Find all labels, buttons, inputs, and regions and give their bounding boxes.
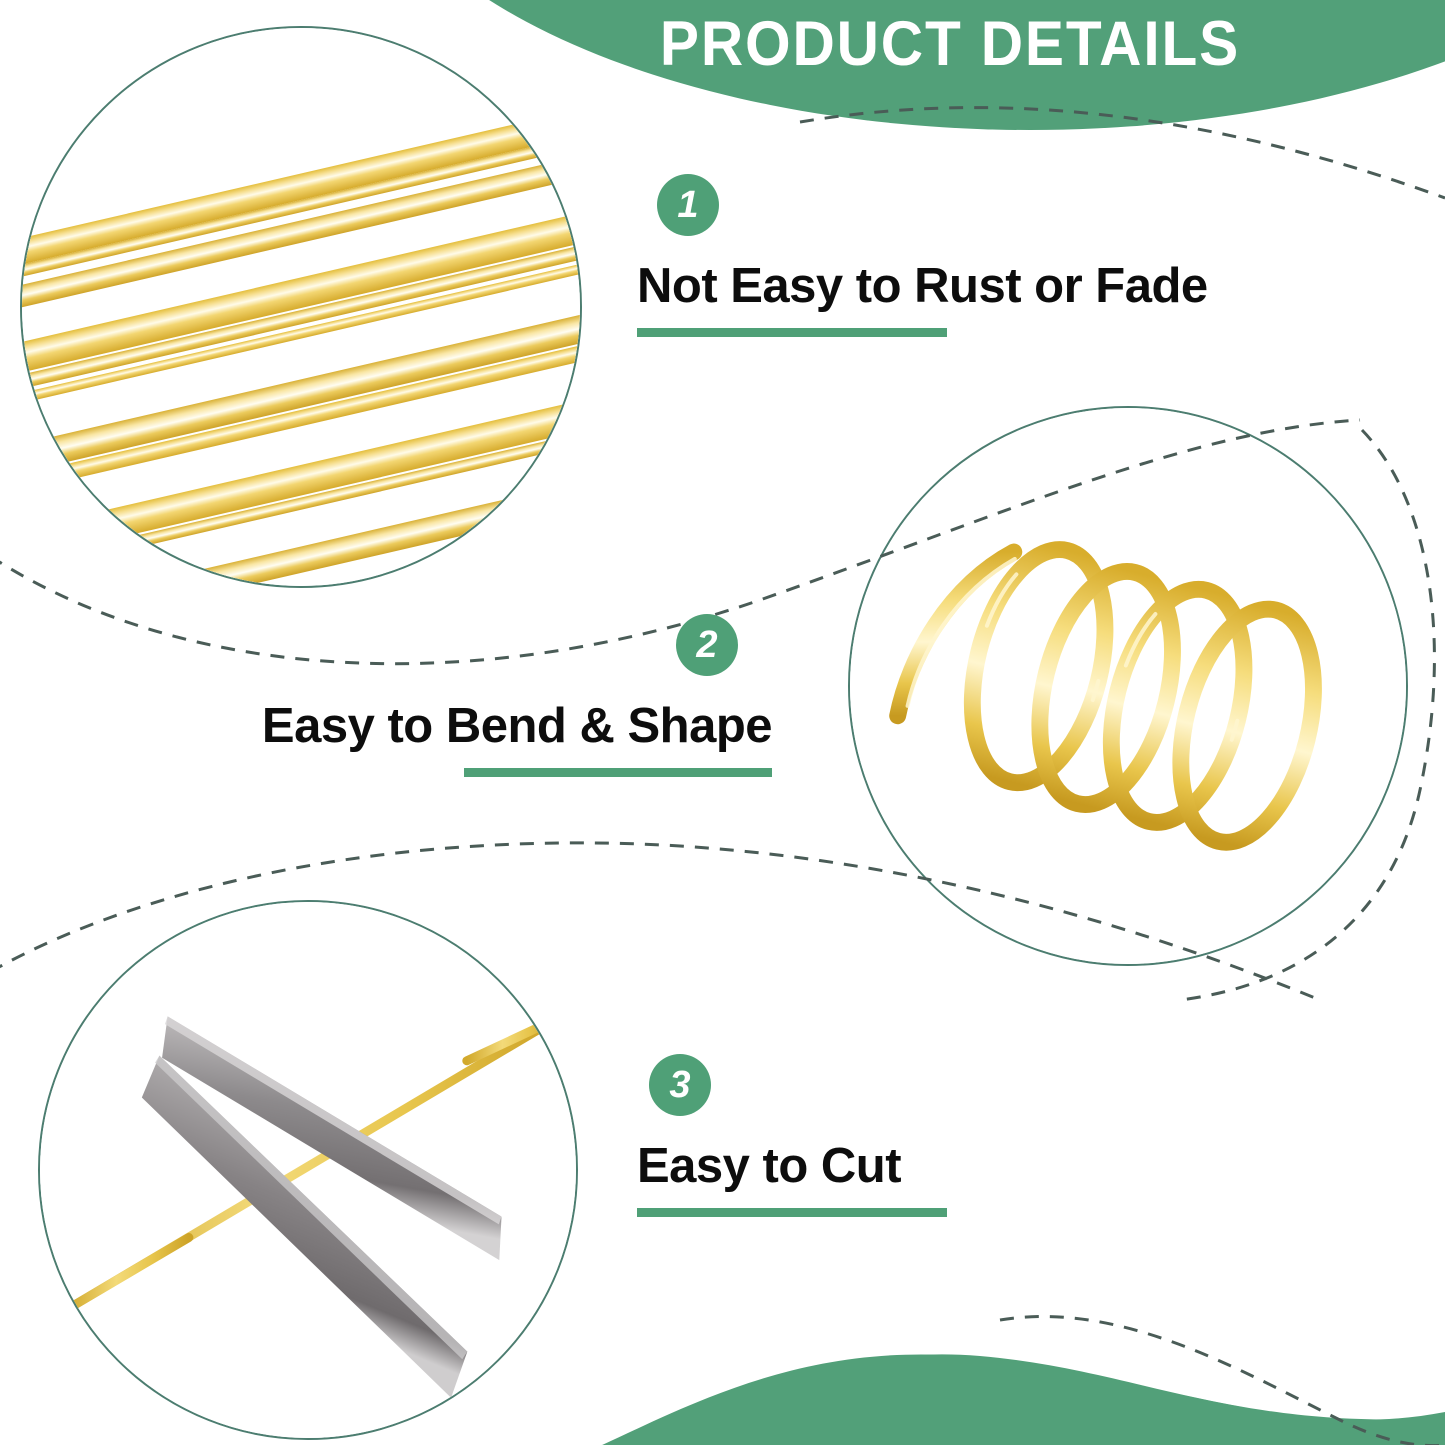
feature-title-1: Not Easy to Rust or Fade [637,258,1208,314]
dashed-curve-coil-ring [1180,430,1434,1000]
feature-badge-3: 3 [649,1054,711,1116]
feature-block-3: 3 Easy to Cut [637,1054,947,1217]
feature-block-1: 1 Not Easy to Rust or Fade [637,174,1208,337]
product-details-poster: PRODUCT DETAILS 1 Not Easy to Rust or Fa… [0,0,1445,1445]
dashed-curve-lower [0,843,1320,1000]
dashed-curve-bottom [1000,1316,1445,1445]
feature-underline-3 [637,1208,947,1217]
feature-block-2: 2 Easy to Bend & Shape [248,614,772,777]
feature-title-2: Easy to Bend & Shape [248,698,772,754]
feature-badge-2: 2 [676,614,738,676]
page-title: PRODUCT DETAILS [625,8,1276,80]
feature-underline-2 [464,768,772,777]
feature-title-3: Easy to Cut [637,1138,947,1194]
feature-underline-1 [637,328,947,337]
feature-badge-1: 1 [657,174,719,236]
